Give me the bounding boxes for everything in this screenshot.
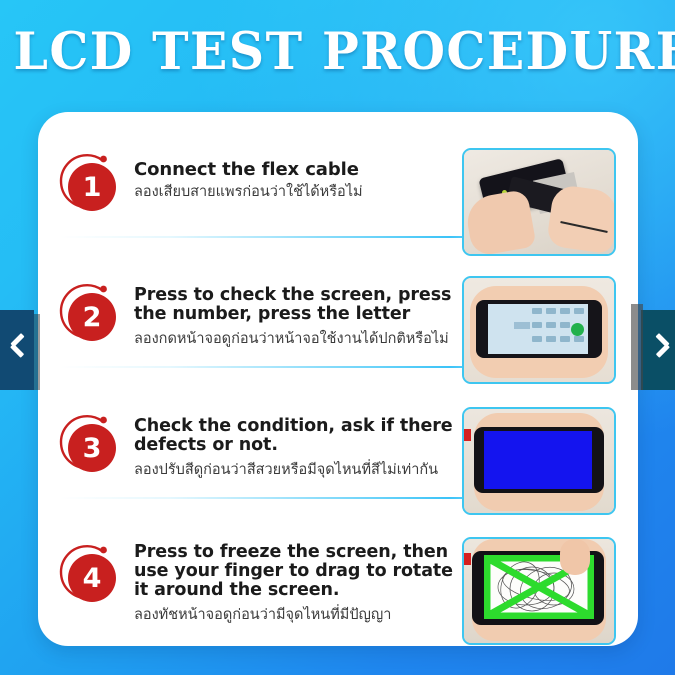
steps-list: 1 Connect the flex cable ลองเสียบสายแพรก… — [38, 112, 638, 646]
step-text: Press to check the screen, press the num… — [122, 264, 462, 348]
step-text: Connect the flex cable ลองเสียบสายแพรก่อ… — [122, 134, 462, 201]
step-title-th: ลองกดหน้าจอดูก่อนว่าหน้าจอใช้งานได้ปกติห… — [134, 331, 462, 348]
step-number-badge: 2 — [60, 286, 122, 348]
step-row: 2 Press to check the screen, press the n… — [38, 264, 638, 392]
step-text: Check the condition, ask if there defect… — [122, 395, 462, 479]
thumb-touch-drag-test — [462, 537, 616, 645]
photo-blue-screen — [464, 409, 614, 513]
step-text: Press to freeze the screen, then use you… — [122, 525, 462, 624]
step-number-badge: 1 — [60, 156, 122, 218]
steps-card: 1 Connect the flex cable ลองเสียบสายแพรก… — [38, 112, 638, 646]
photo-touch-test — [464, 539, 614, 643]
step-number: 2 — [68, 293, 116, 341]
chevron-left-icon — [10, 337, 25, 363]
step-row: 4 Press to freeze the screen, then use y… — [38, 525, 638, 655]
step-number-badge: 3 — [60, 417, 122, 479]
step-title-en: Check the condition, ask if there defect… — [134, 417, 462, 455]
step-title-en: Press to check the screen, press the num… — [134, 286, 462, 324]
thumb-blue-screen-test — [462, 407, 616, 515]
photo-dialer-keypad — [464, 278, 614, 382]
step-row: 3 Check the condition, ask if there defe… — [38, 395, 638, 523]
step-number-badge: 4 — [60, 547, 122, 609]
step-title-en: Press to freeze the screen, then use you… — [134, 543, 462, 600]
thumb-connect-flex-cable — [462, 148, 616, 256]
slide-container: LCD TEST PROCEDURE 1 Connect the flex ca… — [0, 0, 675, 675]
step-number: 1 — [68, 163, 116, 211]
step-title-en: Connect the flex cable — [134, 160, 462, 179]
step-number: 3 — [68, 424, 116, 472]
next-slide-arrow[interactable] — [641, 310, 675, 390]
step-title-th: ลองปรับสีดูก่อนว่าสีสวยหรือมีจุดไหนที่สี… — [134, 462, 462, 479]
step-row: 1 Connect the flex cable ลองเสียบสายแพรก… — [38, 134, 638, 258]
photo-flex-cable — [464, 150, 614, 254]
step-number: 4 — [68, 554, 116, 602]
page-title: LCD TEST PROCEDURE — [14, 22, 662, 82]
chevron-right-icon — [651, 337, 666, 363]
step-title-th: ลองเสียบสายแพรก่อนว่าใช้ได้หรือไม่ — [134, 184, 462, 201]
thumb-press-check-screen — [462, 276, 616, 384]
step-title-th: ลองทัชหน้าจอดูก่อนว่ามีจุดไหนที่มีปัญญา — [134, 607, 462, 624]
previous-slide-arrow[interactable] — [0, 310, 34, 390]
